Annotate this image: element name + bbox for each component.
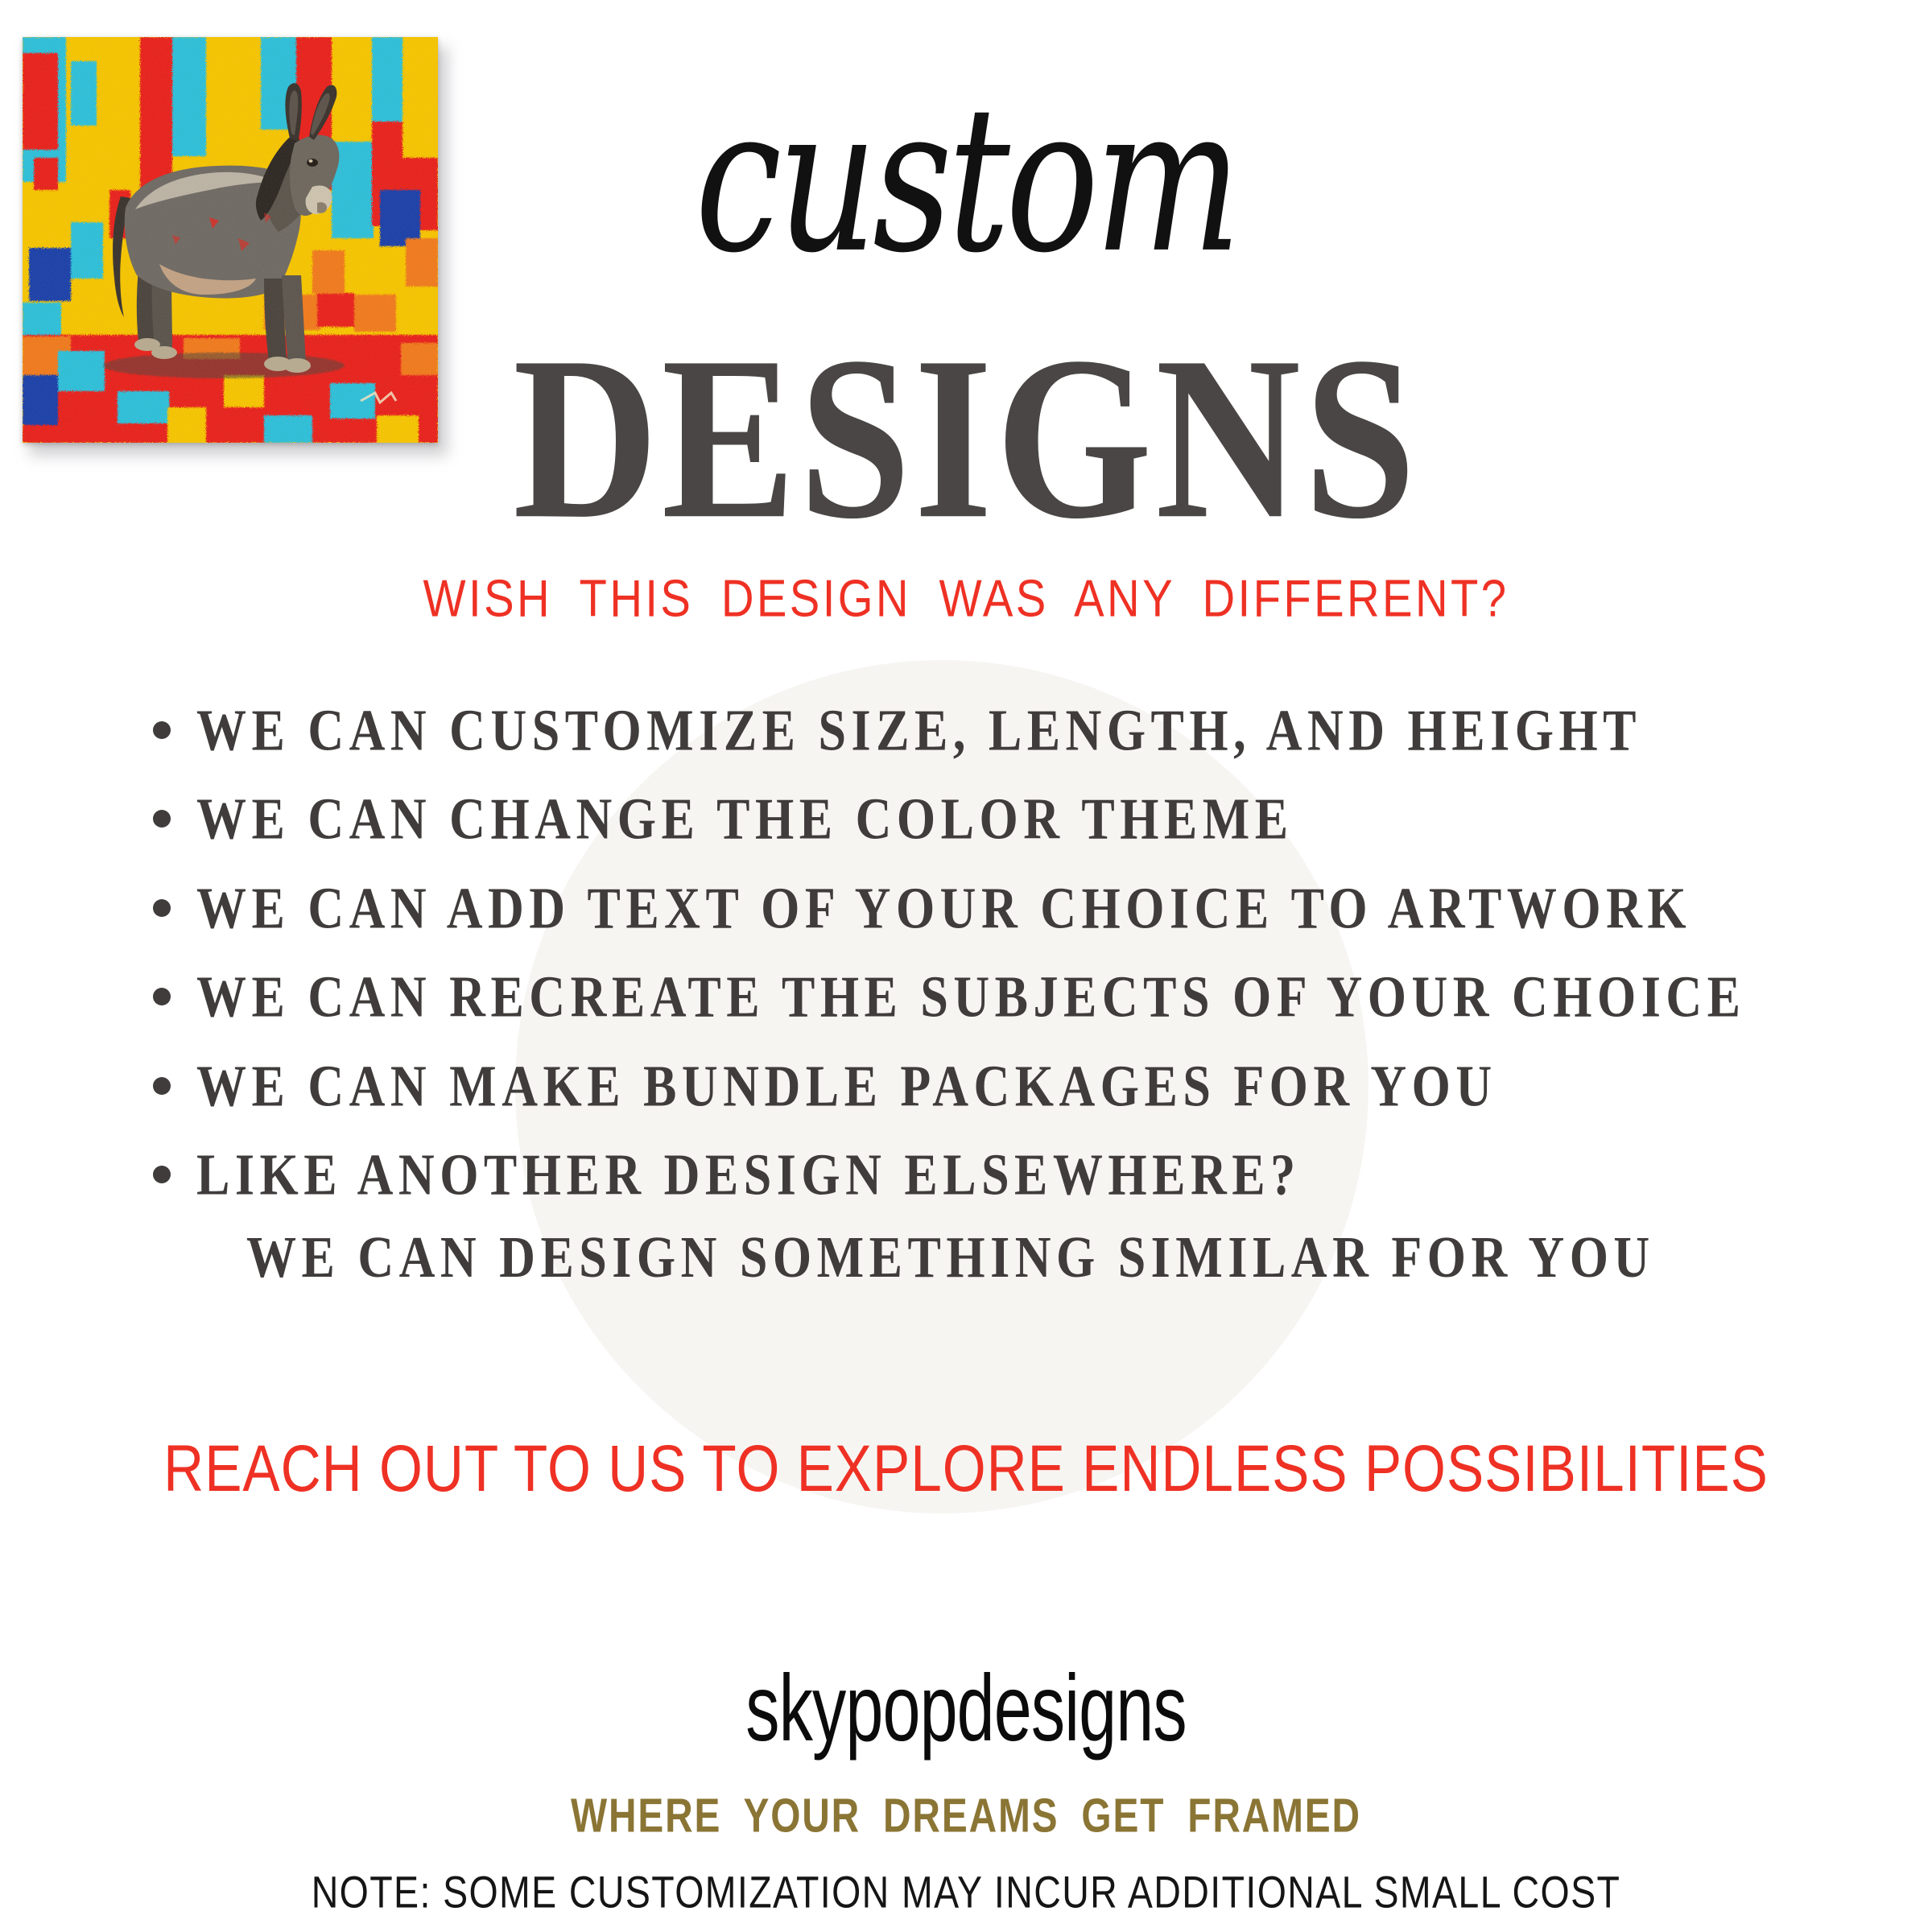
list-item-label: WE CAN ADD TEXT OF YOUR CHOICE TO ARTWOR… xyxy=(196,878,1691,939)
list-item-label: WE CAN MAKE BUNDLE PACKAGES FOR YOU xyxy=(196,1056,1497,1117)
feature-list: WE CAN CUSTOMIZE SIZE, LENGTH, AND HEIGH… xyxy=(153,700,1811,1314)
footer-note: NOTE: SOME CUSTOMIZATION MAY INCUR ADDIT… xyxy=(68,1866,1864,1918)
bullet-dot-icon xyxy=(153,1077,171,1095)
list-item: WE CAN MAKE BUNDLE PACKAGES FOR YOU xyxy=(153,1056,1811,1108)
list-item-label: LIKE ANOTHER DESIGN ELSEWHERE? xyxy=(196,1145,1301,1206)
list-item: LIKE ANOTHER DESIGN ELSEWHERE? xyxy=(153,1145,1811,1196)
bullet-dot-icon xyxy=(153,899,171,917)
list-item: WE CAN ADD TEXT OF YOUR CHOICE TO ARTWOR… xyxy=(153,878,1811,930)
cta-text[interactable]: REACH OUT TO US TO EXPLORE ENDLESS POSSI… xyxy=(10,1431,1922,1506)
script-headline: custom xyxy=(58,80,1874,282)
brand-tagline: WHERE YOUR DREAMS GET FRAMED xyxy=(77,1789,1855,1843)
brand-logo-text: skypopdesigns xyxy=(116,1655,1816,1763)
bullet-dot-icon xyxy=(153,810,171,828)
list-item: WE CAN CUSTOMIZE SIZE, LENGTH, AND HEIGH… xyxy=(153,700,1811,752)
page-title: DESIGNS xyxy=(0,322,1932,555)
bullet-dot-icon xyxy=(153,988,171,1005)
list-item-label: WE CAN CHANGE THE COLOR THEME xyxy=(196,789,1294,850)
list-item-continuation: WE CAN DESIGN SOMETHING SIMILAR FOR YOU xyxy=(246,1224,1811,1292)
poster-canvas: custom DESIGNS WISH THIS DESIGN WAS ANY … xyxy=(0,0,1932,1932)
list-item-label: WE CAN CUSTOMIZE SIZE, LENGTH, AND HEIGH… xyxy=(196,700,1641,762)
list-item: WE CAN CHANGE THE COLOR THEME xyxy=(153,789,1811,840)
list-item-label: WE CAN RECREATE THE SUBJECTS OF YOUR CHO… xyxy=(196,967,1746,1028)
bullet-dot-icon xyxy=(153,1166,171,1183)
subtitle-question: WISH THIS DESIGN WAS ANY DIFFERENT? xyxy=(29,568,1903,629)
bullet-dot-icon xyxy=(153,721,171,739)
list-item: WE CAN RECREATE THE SUBJECTS OF YOUR CHO… xyxy=(153,967,1811,1018)
